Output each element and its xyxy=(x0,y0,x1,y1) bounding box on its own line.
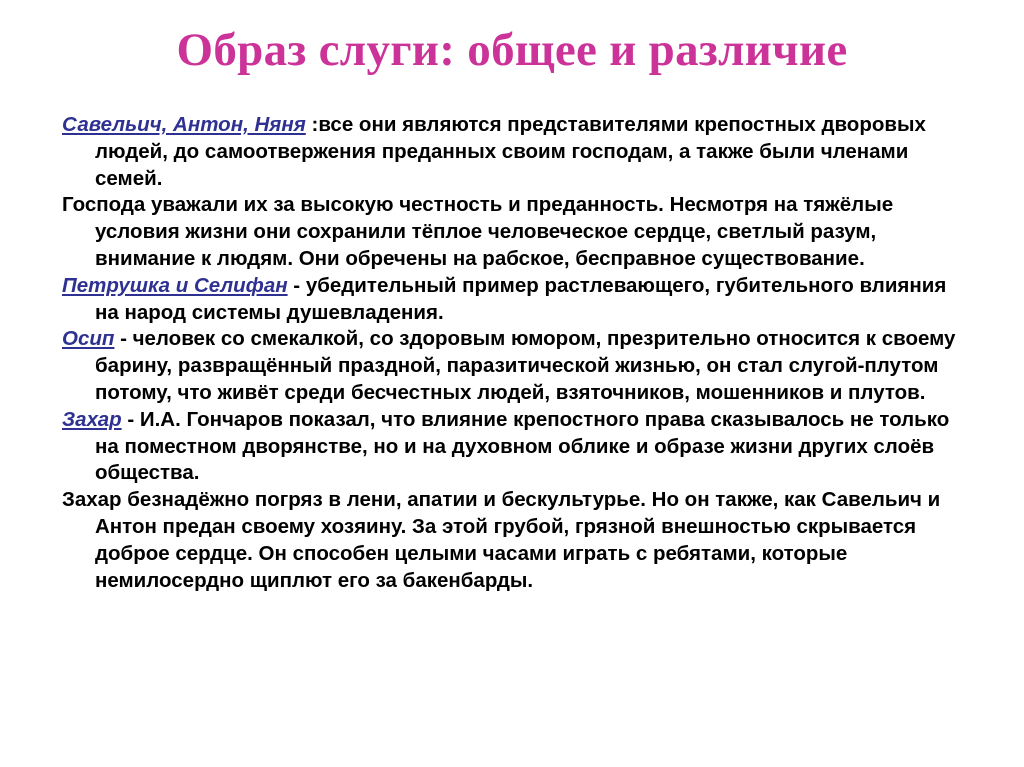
lead-term-petrushka-selifan: Петрушка и Селифан xyxy=(62,274,288,297)
lead-term-zahar: Захар xyxy=(62,408,122,431)
paragraph-petrushka-selifan: Петрушка и Селифан - убедительный пример… xyxy=(62,273,957,327)
slide-canvas: Образ слуги: общее и различие Савельич, … xyxy=(0,0,1024,767)
paragraph-savelich: Савельич, Антон, Няня :все они являются … xyxy=(62,112,957,192)
paragraph-text-gospoda: Господа уважали их за высокую честность … xyxy=(62,193,893,270)
lead-term-osip: Осип xyxy=(62,327,114,350)
paragraph-text-osip: - человек со смекалкой, со здоровым юмор… xyxy=(95,327,955,404)
paragraph-zahar-conclusion: Захар безнадёжно погряз в лени, апатии и… xyxy=(62,487,957,594)
paragraph-text-zahar: - И.А. Гончаров показал, что влияние кре… xyxy=(95,408,949,485)
lead-term-savelich: Савельич, Антон, Няня xyxy=(62,113,306,136)
paragraph-gospoda: Господа уважали их за высокую честность … xyxy=(62,192,957,272)
slide-title: Образ слуги: общее и различие xyxy=(0,22,1024,78)
paragraph-zahar: Захар - И.А. Гончаров показал, что влиян… xyxy=(62,407,957,487)
slide-body: Савельич, Антон, Няня :все они являются … xyxy=(62,112,957,594)
paragraph-osip: Осип - человек со смекалкой, со здоровым… xyxy=(62,326,957,406)
paragraph-text-zahar-conclusion: Захар безнадёжно погряз в лени, апатии и… xyxy=(62,488,940,591)
